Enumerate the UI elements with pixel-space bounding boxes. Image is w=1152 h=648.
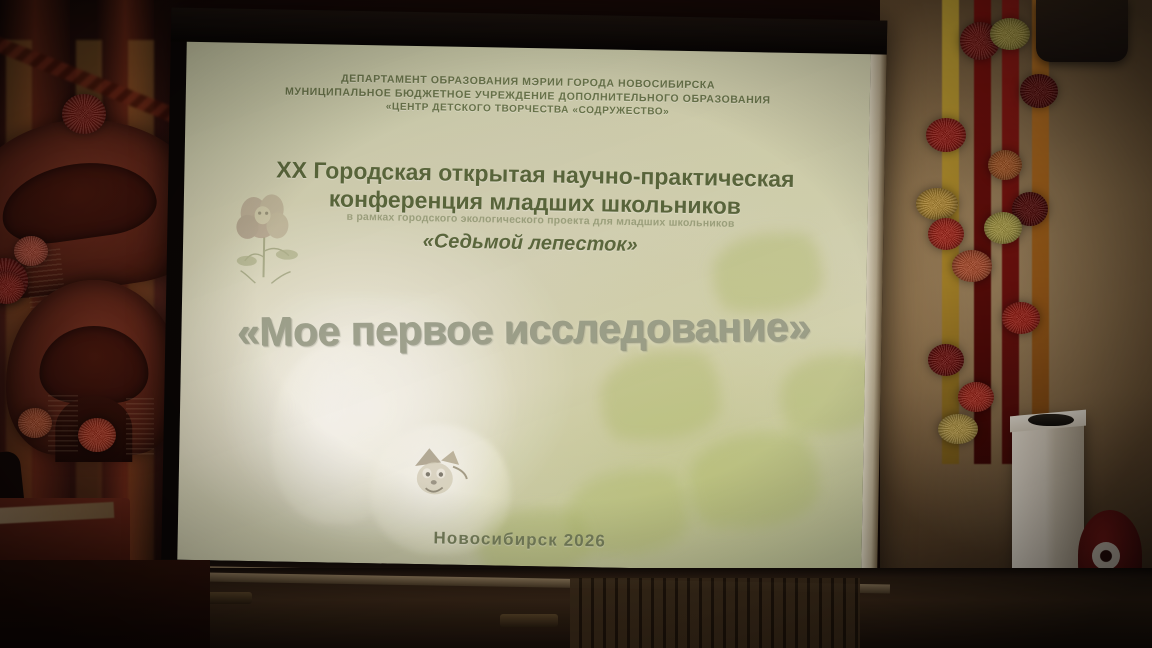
slide-theme-heading: «Мое первое исследование» bbox=[181, 303, 865, 357]
heating-pipe bbox=[500, 614, 558, 627]
room-photo-scene: ДЕПАРТАМЕНТ ОБРАЗОВАНИЯ МЭРИИ ГОРОДА НОВ… bbox=[0, 0, 1152, 648]
paper-fan-rosette bbox=[1002, 302, 1040, 334]
slide-content: ДЕПАРТАМЕНТ ОБРАЗОВАНИЯ МЭРИИ ГОРОДА НОВ… bbox=[177, 42, 870, 572]
paper-fan-rosette bbox=[926, 118, 966, 152]
projection-screen-frame: ДЕПАРТАМЕНТ ОБРАЗОВАНИЯ МЭРИИ ГОРОДА НОВ… bbox=[161, 7, 888, 604]
orange-ribbon bbox=[1032, 0, 1049, 464]
object-on-pedestal bbox=[1028, 414, 1074, 426]
city-year-label: Новосибирск 2026 bbox=[178, 524, 862, 557]
project-name: «Седьмой лепесток» bbox=[223, 226, 837, 260]
bead-fringe bbox=[48, 395, 78, 455]
paper-fan-rosette bbox=[952, 250, 992, 282]
paper-fan-rosette bbox=[988, 150, 1022, 180]
paper-fan-rosette bbox=[916, 188, 958, 220]
paper-fan-rosette bbox=[14, 236, 48, 266]
paper-fan-rosette bbox=[62, 94, 106, 134]
paper-fan-rosette bbox=[938, 414, 978, 444]
kokoshnik-inner-panel bbox=[0, 154, 160, 250]
organization-block: ДЕПАРТАМЕНТ ОБРАЗОВАНИЯ МЭРИИ ГОРОДА НОВ… bbox=[186, 70, 871, 122]
paper-fan-rosette bbox=[18, 408, 52, 438]
paper-fan-rosette bbox=[928, 218, 964, 250]
paper-fan-rosette bbox=[984, 212, 1022, 244]
dark-foreground-furniture bbox=[0, 560, 210, 648]
wall-mounted-box bbox=[1036, 0, 1128, 62]
kokoshnik-inner-panel bbox=[39, 326, 148, 403]
paper-fan-rosette bbox=[1020, 74, 1058, 108]
projection-screen-surface: ДЕПАРТАМЕНТ ОБРАЗОВАНИЯ МЭРИИ ГОРОДА НОВ… bbox=[177, 42, 870, 572]
paper-fan-rosette bbox=[928, 344, 964, 376]
paper-fan-rosette bbox=[78, 418, 116, 452]
wall-radiator bbox=[570, 578, 860, 648]
paper-fan-rosette bbox=[958, 382, 994, 412]
bead-fringe bbox=[126, 398, 154, 456]
paper-fan-rosette bbox=[990, 18, 1030, 50]
mouse-character-clipart bbox=[406, 444, 473, 503]
